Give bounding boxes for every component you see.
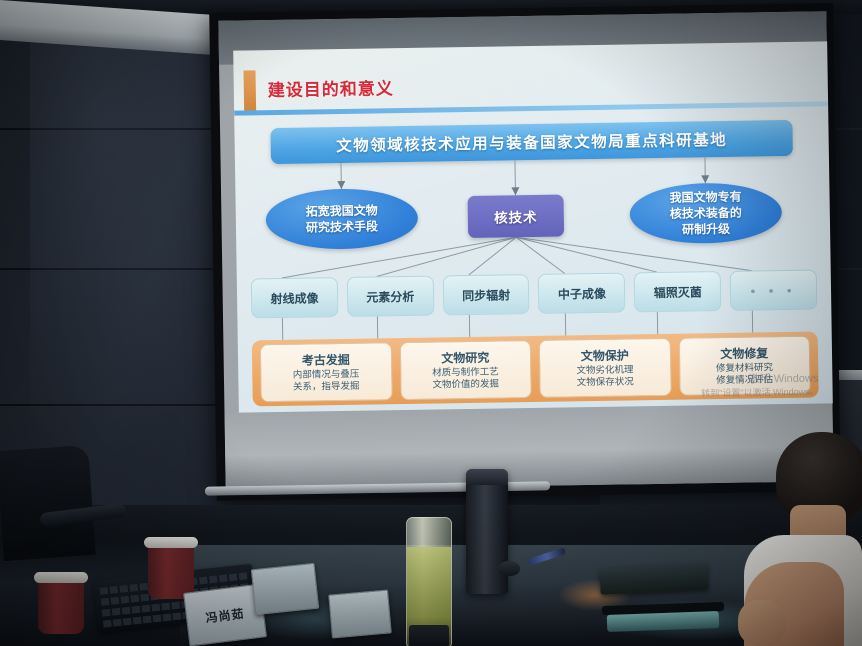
name-placard — [328, 589, 392, 638]
screen-bottom-band — [225, 403, 834, 491]
watermark-line2: 转到"设置"以激活 Windows。 — [701, 386, 819, 399]
technique-box-synchrotron: 同步辐射 — [442, 274, 529, 315]
presentation-slide: 建设目的和意义 文物领域核技术应用与装备国家文物局重点科研基地 — [233, 41, 833, 412]
node-widen-line1: 拓宽我国文物 — [306, 203, 378, 218]
card-title: 文物修复 — [720, 344, 768, 362]
technique-box-element-analysis: 元素分析 — [347, 276, 434, 317]
technique-row: 射线成像 元素分析 同步辐射 中子成像 辐照灭菌 • • • — [251, 270, 818, 319]
card-line2: 文物保存状况 — [577, 376, 634, 388]
card-line1: 材质与制作工艺 — [432, 366, 499, 378]
card-title: 考古发掘 — [302, 351, 350, 369]
slide-header-box: 文物领域核技术应用与装备国家文物局重点科研基地 — [270, 120, 793, 164]
technique-box-ellipsis: • • • — [730, 270, 817, 311]
conference-room-photo: 建设目的和意义 文物领域核技术应用与装备国家文物局重点科研基地 — [0, 0, 862, 646]
node-widen-line2: 研究技术手段 — [306, 219, 378, 234]
card-line2: 关系，指导发掘 — [293, 381, 360, 393]
node-nuclear-tech: 核技术 — [468, 195, 565, 239]
node-widen-methods: 拓宽我国文物研究技术手段 — [265, 188, 418, 250]
card-line2: 文物价值的发掘 — [432, 379, 499, 391]
node-equip-line2: 核技术装备的 — [670, 206, 742, 221]
paper-cup[interactable] — [38, 578, 84, 634]
tea-bottle[interactable] — [406, 517, 452, 646]
placard-name: 冯尚茹 — [205, 604, 246, 626]
application-card-archaeology: 考古发掘 内部情况与叠压关系，指导发掘 — [260, 342, 392, 402]
thermos-cap — [466, 469, 508, 485]
thermos[interactable] — [466, 469, 508, 594]
application-card-protection: 文物保护 文物劣化机理文物保存状况 — [539, 338, 671, 398]
card-line1: 内部情况与叠压 — [293, 368, 360, 380]
application-card-research: 文物研究 材质与制作工艺文物价值的发掘 — [399, 340, 531, 400]
card-line1: 修复材料研究 — [716, 362, 773, 374]
windows-activation-watermark: 激活 Windows 转到"设置"以激活 Windows。 — [701, 373, 819, 400]
office-chair — [0, 445, 96, 561]
node-equipment-upgrade: 我国文物专有核技术装备的研制升级 — [629, 182, 782, 244]
title-accent-bar — [244, 70, 257, 112]
node-equip-line1: 我国文物专有 — [669, 189, 741, 204]
node-equip-line3: 研制升级 — [682, 222, 730, 237]
technique-box-ray-imaging: 射线成像 — [251, 277, 338, 318]
seated-person-hand — [738, 600, 786, 646]
card-title: 文物研究 — [441, 348, 489, 366]
bottle-lid — [409, 625, 449, 646]
card-title: 文物保护 — [581, 346, 629, 364]
node-nuclear-tech-label: 核技术 — [494, 206, 538, 227]
technique-box-neutron-imaging: 中子成像 — [538, 273, 625, 314]
name-placard — [251, 563, 319, 615]
card-line1: 文物劣化机理 — [576, 364, 633, 376]
slide-title: 建设目的和意义 — [268, 74, 394, 101]
paper-cup[interactable] — [148, 543, 194, 599]
slide-header-text: 文物领域核技术应用与装备国家文物局重点科研基地 — [336, 128, 727, 156]
technique-box-irradiation-sterilization: 辐照灭菌 — [634, 271, 721, 312]
mouse[interactable] — [498, 561, 520, 576]
